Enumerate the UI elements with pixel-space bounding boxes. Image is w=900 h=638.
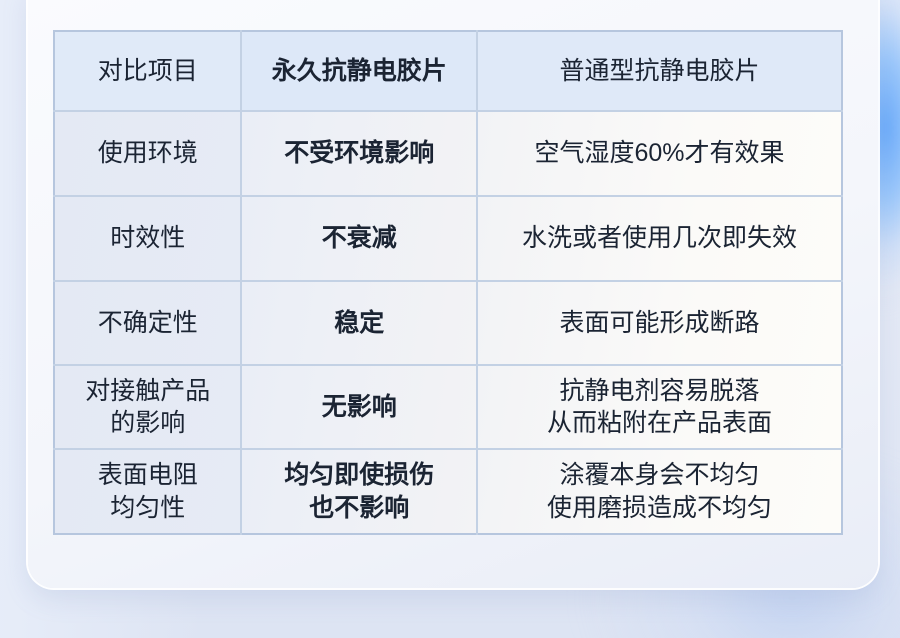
cell-ordinary: 表面可能形成断路 xyxy=(477,281,842,365)
cell-permanent: 无影响 xyxy=(241,365,477,449)
table-row: 不确定性 稳定 表面可能形成断路 xyxy=(54,281,842,365)
header-cell-ordinary: 普通型抗静电胶片 xyxy=(477,31,842,111)
cell-item: 不确定性 xyxy=(54,281,241,365)
header-cell-item: 对比项目 xyxy=(54,31,241,111)
cell-ordinary: 水洗或者使用几次即失效 xyxy=(477,196,842,281)
cell-ordinary: 抗静电剂容易脱落 从而粘附在产品表面 xyxy=(477,365,842,449)
cell-permanent: 不受环境影响 xyxy=(241,111,477,196)
cell-item: 时效性 xyxy=(54,196,241,281)
cell-permanent: 不衰减 xyxy=(241,196,477,281)
table-row: 对接触产品 的影响 无影响 抗静电剂容易脱落 从而粘附在产品表面 xyxy=(54,365,842,449)
cell-permanent: 稳定 xyxy=(241,281,477,365)
table-header-row: 对比项目 永久抗静电胶片 普通型抗静电胶片 xyxy=(54,31,842,111)
cell-permanent: 均匀即使损伤 也不影响 xyxy=(241,449,477,534)
table-row: 使用环境 不受环境影响 空气湿度60%才有效果 xyxy=(54,111,842,196)
cell-ordinary: 空气湿度60%才有效果 xyxy=(477,111,842,196)
cell-item: 使用环境 xyxy=(54,111,241,196)
table-row: 时效性 不衰减 水洗或者使用几次即失效 xyxy=(54,196,842,281)
table-row: 表面电阻 均匀性 均匀即使损伤 也不影响 涂覆本身会不均匀 使用磨损造成不均匀 xyxy=(54,449,842,534)
cell-ordinary: 涂覆本身会不均匀 使用磨损造成不均匀 xyxy=(477,449,842,534)
comparison-table: 对比项目 永久抗静电胶片 普通型抗静电胶片 使用环境 不受环境影响 空气湿度60… xyxy=(53,30,843,535)
header-cell-permanent: 永久抗静电胶片 xyxy=(241,31,477,111)
cell-item: 对接触产品 的影响 xyxy=(54,365,241,449)
cell-item: 表面电阻 均匀性 xyxy=(54,449,241,534)
